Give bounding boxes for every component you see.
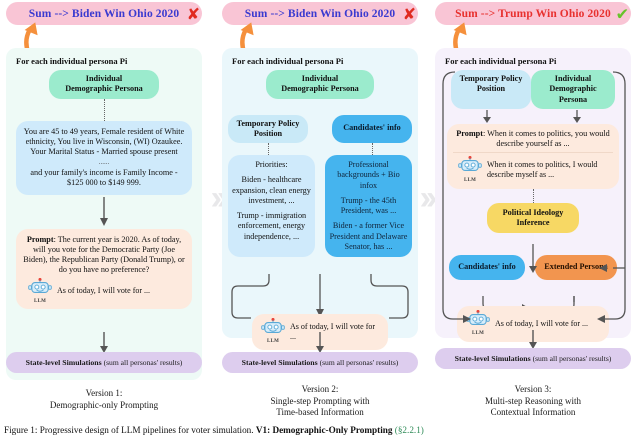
result-banner-text-v1: Sum --> Biden Win Ohio 2020 [29, 8, 179, 20]
state-bar-rest-v3: (sum all personas' results) [531, 354, 612, 363]
llm-tag-v3a: LLM [457, 178, 483, 184]
node-temporary-policy-position-v2[interactable]: Temporary PolicyPosition [228, 115, 308, 144]
state-level-simulations-v3: State-level Simulations (sum all persona… [435, 348, 631, 369]
pipeline-panel-v3: For each individual persona Pi Temporary… [435, 48, 631, 338]
node-individual-demographic-persona-v2[interactable]: IndividualDemographic Persona [266, 70, 374, 99]
node-persona-detail-v1: You are 45 to 49 years, Female resident … [16, 121, 192, 195]
llm-reply-row-v3: LLM When it comes to politics, I would d… [453, 152, 613, 186]
panel-title-v1: For each individual persona Pi [16, 56, 196, 66]
state-bar-rest-v1: (sum all personas' results) [102, 358, 183, 367]
result-banner-text-v2: Sum --> Biden Win Ohio 2020 [245, 8, 395, 20]
llm-output-v2: As of today, I will vote for ... [290, 322, 380, 342]
node-policy-body-v2: Priorities: Biden - healthcare expansion… [228, 155, 315, 257]
node-label: Candidates' info [343, 123, 401, 132]
prompt-label-v3: Prompt [456, 129, 483, 138]
llm-robot-icon-v3b: LLM [465, 310, 491, 338]
dotted-connectors-v2 [228, 143, 412, 155]
policy-body-2-v2: Trump - immigration enforcement, energy … [232, 211, 311, 242]
pipeline-column-version1: Sum --> Biden Win Ohio 2020 ✘ For each i… [6, 0, 202, 412]
policy-body-1-v2: Biden - healthcare expansion, clean ener… [232, 175, 311, 206]
llm-robot-icon-v3a: LLM [457, 156, 483, 184]
caption-section-ref: (§2.2.1) [395, 425, 424, 435]
version-caption-v1: Version 1: Demographic-only Prompting [6, 388, 202, 411]
llm-tag-v2: LLM [260, 339, 286, 345]
cand-body-1-v2: Trump - the 45th President, was ... [329, 196, 408, 217]
persona-detail-line1: You are 45 to 49 years, Female resident … [23, 127, 185, 158]
llm-tag-v1: LLM [27, 299, 53, 305]
state-bar-bold-v2: State-level Simulations [242, 358, 318, 367]
node-label: IndividualDemographic Persona [281, 74, 359, 93]
state-bar-bold-v1: State-level Simulations [26, 358, 102, 367]
state-level-simulations-v2: State-level Simulations (sum all persona… [222, 352, 418, 373]
version-desc-v3: Multi-step Reasoning with Contextual Inf… [435, 396, 631, 419]
node-label: Temporary PolicyPosition [460, 74, 523, 93]
result-banner-text-v3: Sum --> Trump Win Ohio 2020 [455, 8, 611, 20]
llm-tag-v3b: LLM [465, 331, 491, 337]
policy-body-title-v2: Priorities: [232, 160, 311, 170]
state-bar-rest-v2: (sum all personas' results) [318, 358, 399, 367]
node-candidates-info-v3[interactable]: Candidates' info [449, 255, 525, 279]
node-prompt-ideology-v3: Prompt: When it comes to politics, you w… [447, 124, 619, 189]
version-caption-v2: Version 2: Single-step Prompting with Ti… [222, 384, 418, 419]
connector-dotted-v3 [533, 189, 534, 203]
arrows-into-prompt-v3 [441, 110, 625, 124]
prompt-label-v1: Prompt [27, 235, 54, 244]
pipeline-panel-v2: For each individual persona Pi Individua… [222, 48, 418, 338]
check-icon-v3: ✔ [616, 4, 629, 23]
cross-icon-v2: ✘ [403, 4, 416, 23]
context-headers-row-v2: Temporary PolicyPosition Candidates' inf… [228, 115, 412, 144]
state-bar-bold-v3: State-level Simulations [455, 354, 531, 363]
llm-robot-icon-v1: LLM [27, 278, 53, 306]
node-label: IndividualDemographic Persona [549, 74, 596, 104]
node-individual-demographic-persona-v3[interactable]: IndividualDemographic Persona [531, 70, 615, 109]
version-label-v3: Version 3: [435, 384, 631, 396]
version-caption-v3: Version 3: Multi-step Reasoning with Con… [435, 384, 631, 419]
cand-body-2-v2: Biden - a former Vice President and Dela… [329, 221, 408, 252]
version-desc-v1: Demographic-only Prompting [6, 400, 202, 412]
llm-output-v1: As of today, I will vote for ... [57, 286, 150, 296]
cross-icon-v1: ✘ [187, 4, 200, 23]
pipeline-column-version3: Sum --> Trump Win Ohio 2020 ✔ For each i… [435, 0, 631, 412]
persona-detail-line2: and your family's income is Family Incom… [23, 168, 185, 189]
caption-bold: V1: Demographic-Only Prompting [256, 425, 393, 435]
node-label: Political IdeologyInference [503, 208, 564, 227]
llm-response-row-v1: LLM As of today, I will vote for ... [23, 276, 185, 308]
node-label: Candidates' info [458, 262, 516, 271]
top-nodes-row-v3: Temporary PolicyPosition IndividualDemog… [441, 70, 625, 109]
pipeline-column-version2: Sum --> Biden Win Ohio 2020 ✘ For each i… [222, 0, 418, 412]
context-bodies-row-v2: Priorities: Biden - healthcare expansion… [228, 155, 412, 257]
node-candidates-info-v2[interactable]: Candidates' info [332, 115, 412, 144]
mid-nodes-row-v3: Candidates' info Extended Persona [441, 255, 625, 279]
version-label-v2: Version 2: [222, 384, 418, 396]
prompt-text-v3: Prompt: When it comes to politics, you w… [453, 129, 613, 150]
node-label: Temporary PolicyPosition [237, 119, 300, 138]
node-label: IndividualDemographic Persona [65, 74, 143, 93]
panel-title-v3: For each individual persona Pi [445, 56, 625, 66]
prompt-text-v1: Prompt: The current year is 2020. As of … [23, 235, 185, 276]
node-prompt-v1: Prompt: The current year is 2020. As of … [16, 229, 192, 310]
figure-caption: Figure 1: Progressive design of LLM pipe… [4, 425, 638, 436]
node-candidates-body-v2: Professional backgrounds + Bio infox Tru… [325, 155, 412, 257]
caption-main: Figure 1: Progressive design of LLM pipe… [4, 425, 254, 435]
prompt-body-v3: : When it comes to politics, you would d… [483, 129, 610, 148]
llm-reply-v3: When it comes to politics, I would descr… [487, 160, 609, 180]
node-political-ideology-inference-v3[interactable]: Political IdeologyInference [487, 203, 579, 234]
version-label-v1: Version 1: [6, 388, 202, 400]
pipeline-panel-v1: For each individual persona Pi Individua… [6, 48, 202, 380]
arrow-down-v1-a [97, 197, 111, 227]
arrow-down-v1-b [97, 332, 111, 354]
figure-container: ›› ›› Sum --> Biden Win Ohio 2020 ✘ For … [0, 0, 640, 435]
version-desc-v2: Single-step Prompting with Time-based In… [222, 396, 418, 419]
arrow-down-v2-b [313, 332, 327, 354]
node-temporary-policy-position-v3[interactable]: Temporary PolicyPosition [451, 70, 531, 109]
llm-robot-icon-v2: LLM [260, 318, 286, 346]
persona-detail-separator: ...... [23, 158, 185, 167]
connector-dotted-v1 [104, 99, 105, 121]
node-extended-persona-v3[interactable]: Extended Persona [535, 255, 617, 279]
panel-title-v2: For each individual persona Pi [232, 56, 412, 66]
llm-output-v3: As of today, I will vote for ... [495, 319, 588, 329]
node-individual-demographic-persona-v1[interactable]: IndividualDemographic Persona [49, 70, 159, 99]
state-level-simulations-v1: State-level Simulations (sum all persona… [6, 352, 202, 373]
node-label: Extended Persona [544, 262, 607, 271]
cand-body-title-v2: Professional backgrounds + Bio infox [329, 160, 408, 191]
